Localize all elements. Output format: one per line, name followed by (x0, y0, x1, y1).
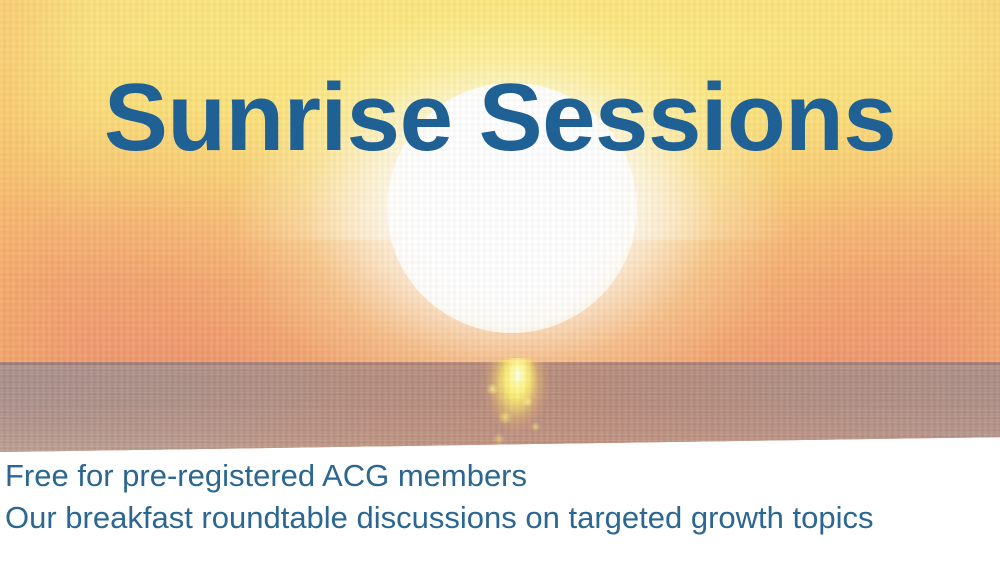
page-title: Sunrise Sessions (0, 70, 1000, 166)
sun-reflection-core (495, 358, 541, 422)
caption-line-1: Free for pre-registered ACG members (5, 457, 527, 495)
caption-line-2: Our breakfast roundtable discussions on … (5, 499, 873, 537)
caption-block: Free for pre-registered ACG members Our … (0, 452, 1000, 563)
sunrise-sessions-slide: Sunrise Sessions Free for pre-registered… (0, 0, 1000, 563)
